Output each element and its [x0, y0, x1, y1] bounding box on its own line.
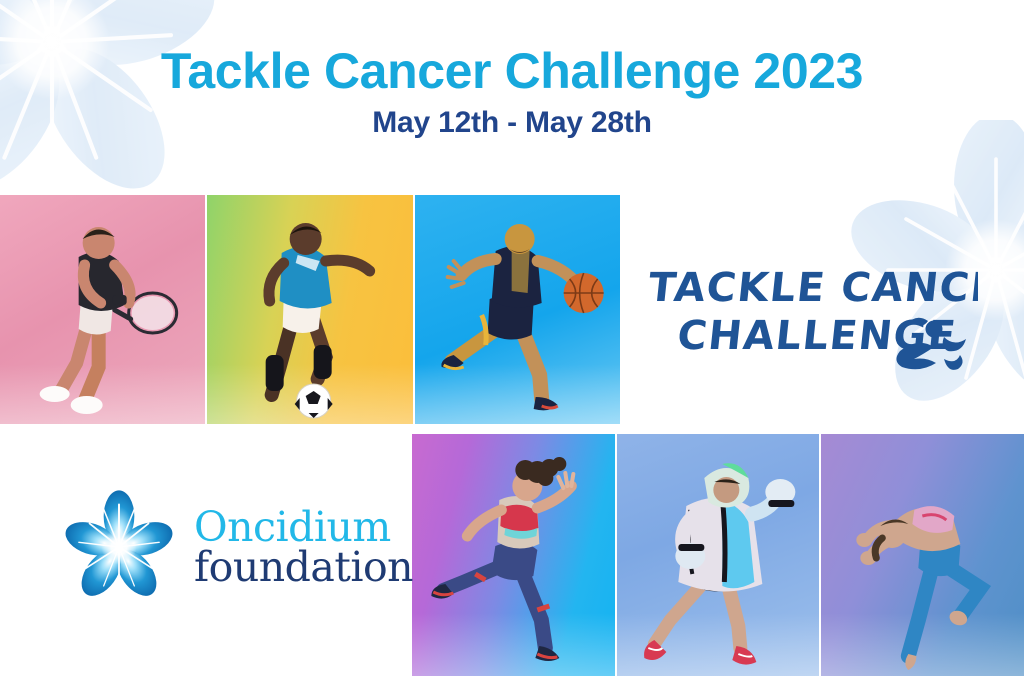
basketball-figure	[415, 195, 620, 424]
tennis-player-photo	[0, 195, 205, 424]
tackle-cancer-challenge-logo: TACKLE CANCER CHALLENGE	[648, 255, 978, 375]
oncidium-flower-icon	[60, 488, 178, 606]
basketball-player-photo	[415, 195, 620, 424]
soccer-player-photo	[207, 195, 412, 424]
dancer-photo	[821, 434, 1024, 676]
tcc-logo-line1: TACKLE CANCER	[648, 265, 978, 311]
event-dates: May 12th - May 28th	[0, 106, 1024, 139]
oncidium-subtitle: foundation	[194, 547, 413, 587]
soccer-figure	[207, 195, 412, 424]
oncidium-name: Oncidium	[194, 507, 413, 547]
heading-block: Tackle Cancer Challenge 2023 May 12th - …	[0, 44, 1024, 139]
oncidium-foundation-logo: Oncidium foundation	[60, 487, 390, 607]
bottom-photo-strip	[412, 434, 1024, 676]
runner-figure	[412, 434, 615, 676]
runner-photo	[412, 434, 615, 676]
oncidium-wordmark: Oncidium foundation	[194, 507, 413, 587]
top-photo-strip	[0, 195, 620, 424]
poster-canvas: Tackle Cancer Challenge 2023 May 12th - …	[0, 0, 1024, 683]
dancer-figure	[821, 434, 1024, 676]
boxer-figure	[617, 434, 820, 676]
boxer-photo	[617, 434, 820, 676]
page-title: Tackle Cancer Challenge 2023	[0, 44, 1024, 98]
tennis-figure	[0, 195, 205, 424]
